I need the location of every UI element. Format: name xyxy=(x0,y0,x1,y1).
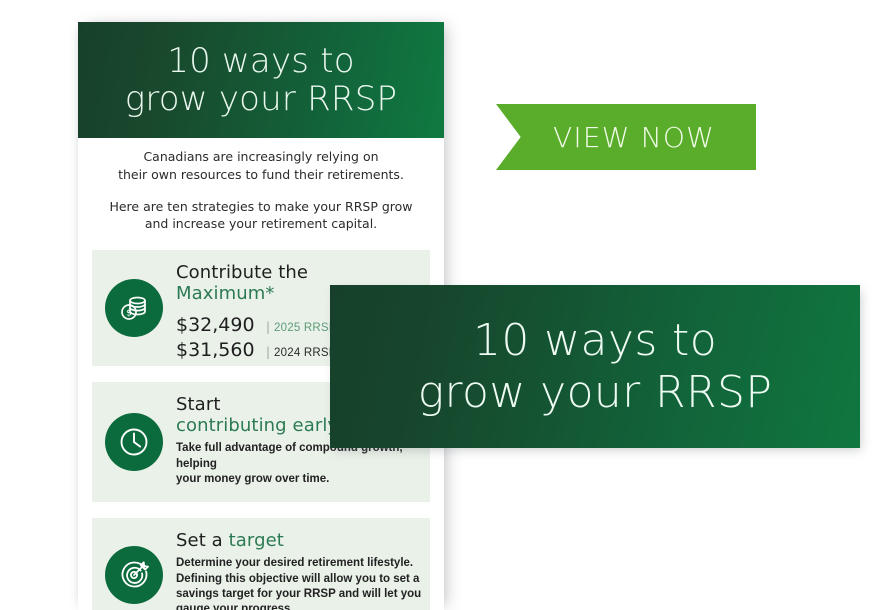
amount-value: $31,560 xyxy=(176,338,260,363)
tip-icon-wrap xyxy=(92,413,176,471)
amount-separator: | xyxy=(266,320,270,336)
intro-paragraph-2: Here are ten strategies to make your RRS… xyxy=(78,198,444,234)
tip-title-accent: target xyxy=(229,530,284,551)
target-icon xyxy=(105,546,163,604)
tip-icon-wrap: $ xyxy=(92,279,176,337)
view-now-label: VIEW NOW xyxy=(537,121,715,154)
tip-icon-wrap xyxy=(92,546,176,604)
tip-title-primary: Contribute the xyxy=(176,262,308,283)
tip-title-accent: Maximum* xyxy=(176,283,275,304)
panel-header-title: 10 ways to grow your RRSP xyxy=(125,42,397,118)
hero-overlay-title: 10 ways to grow your RRSP xyxy=(418,315,773,417)
tip-body: Set a target Determine your desired reti… xyxy=(176,518,430,610)
amount-label: 2024 RRSP xyxy=(274,346,337,361)
view-now-button[interactable]: VIEW NOW xyxy=(496,104,756,170)
amount-value: $32,490 xyxy=(176,313,260,338)
tip-description: Take full advantage of compound growth, … xyxy=(176,441,422,487)
tip-title-primary: Set a xyxy=(176,530,223,551)
clock-icon xyxy=(105,413,163,471)
tip-title-accent: contributing early xyxy=(176,415,338,436)
amount-separator: | xyxy=(266,345,270,361)
intro-text-block: Canadians are increasingly relying on th… xyxy=(78,148,444,233)
svg-text:$: $ xyxy=(126,309,132,319)
tip-title: Set a target xyxy=(176,530,422,551)
panel-header-banner: 10 ways to grow your RRSP xyxy=(78,22,444,138)
tip-card-set-a-target[interactable]: Set a target Determine your desired reti… xyxy=(92,518,430,610)
coins-icon: $ xyxy=(105,279,163,337)
amount-label: 2025 RRSP xyxy=(274,321,337,336)
hero-overlay-banner: 10 ways to grow your RRSP xyxy=(330,285,860,448)
tip-title-primary: Start xyxy=(176,394,220,415)
tip-description: Determine your desired retirement lifest… xyxy=(176,556,422,610)
intro-paragraph-1: Canadians are increasingly relying on th… xyxy=(78,148,444,184)
